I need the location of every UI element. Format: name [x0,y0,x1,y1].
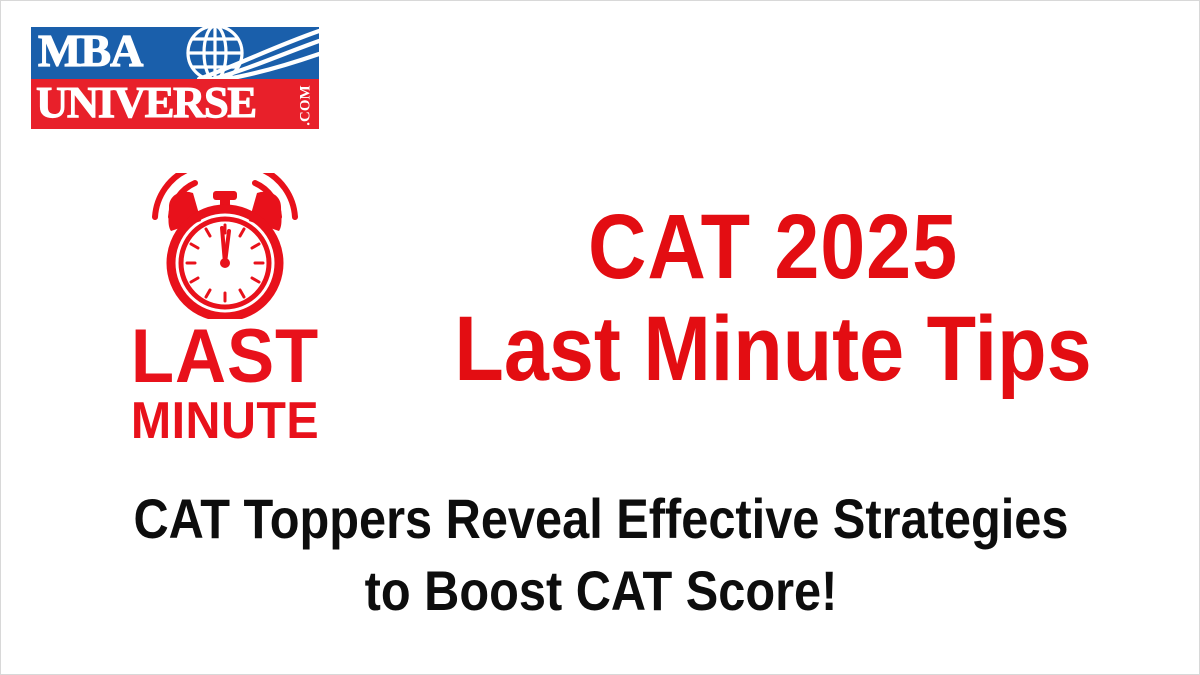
subtitle: CAT Toppers Reveal Effective Strategies … [1,483,1200,627]
headline: CAT 2025 Last Minute Tips [373,197,1173,401]
logo-blue-band: MBA [31,27,319,79]
globe-grid-icon [169,27,319,79]
logo-top-text: MBA [38,27,142,77]
promo-banner: MBA UNIVERSE .COM [0,0,1200,675]
subtitle-line-2: to Boost CAT Score! [79,555,1123,627]
badge-line-2: MINUTE [110,395,341,447]
mba-universe-logo[interactable]: MBA UNIVERSE .COM [31,27,319,129]
logo-red-band: UNIVERSE .COM [31,79,319,129]
subtitle-line-1: CAT Toppers Reveal Effective Strategies [79,483,1123,555]
headline-line-1: CAT 2025 [421,197,1125,297]
badge-line-1: LAST [110,319,341,395]
logo-dotcom-text: .COM [297,81,315,127]
logo-dotcom-label: .COM [299,84,314,128]
logo-bottom-text: UNIVERSE [36,79,256,128]
alarm-clock-icon [125,173,325,319]
headline-line-2: Last Minute Tips [421,297,1125,401]
last-minute-badge: LAST MINUTE [101,173,349,443]
